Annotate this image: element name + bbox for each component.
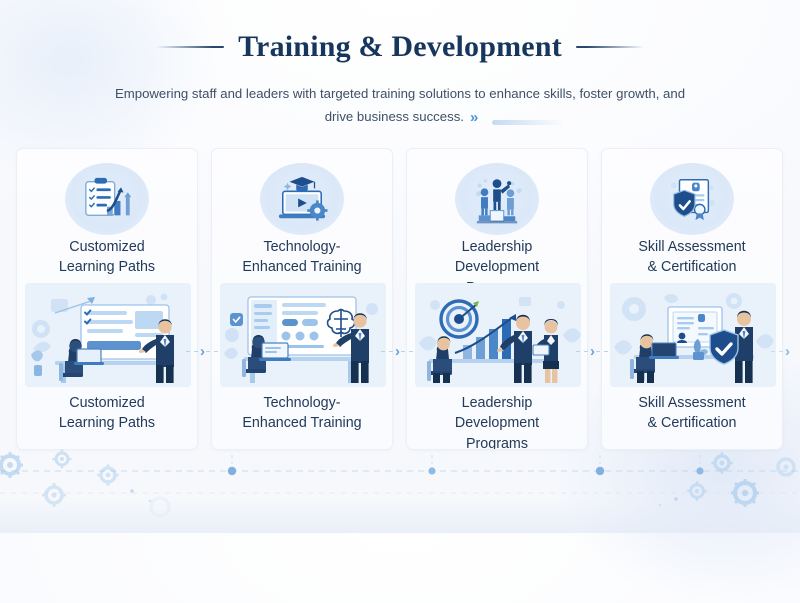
checklist-growth-chart-icon bbox=[65, 163, 149, 235]
card-footer-line-2: & Certification bbox=[608, 413, 776, 433]
card-footer-line-2: Enhanced Training bbox=[218, 413, 386, 433]
card-title-line-1: Skill Assessment bbox=[610, 237, 774, 257]
card-footer-label: Technology- Enhanced Training bbox=[212, 393, 392, 434]
connector-edge-left: › bbox=[0, 344, 1, 358]
certification-shield-desk-illustration bbox=[610, 283, 776, 387]
card-technology-enhanced-training[interactable]: Technology- Enhanced Training bbox=[211, 148, 393, 450]
shield-check-certificate-icon bbox=[650, 163, 734, 235]
card-footer-label: Leadership Development Programs bbox=[407, 393, 587, 450]
winners-podium-icon bbox=[455, 163, 539, 235]
card-footer-line-1: Skill Assessment bbox=[608, 393, 776, 413]
card-footer-line-1: Leadership bbox=[413, 393, 581, 413]
target-growth-chart-team-illustration bbox=[415, 283, 581, 387]
chevron-right-icon: › bbox=[590, 344, 595, 359]
card-footer-line-1: Technology- bbox=[218, 393, 386, 413]
card-title-line-1: Leadership bbox=[415, 237, 579, 257]
card-title-line-1: Customized bbox=[25, 237, 189, 257]
ai-dashboard-training-illustration bbox=[220, 283, 386, 387]
chevron-right-icon: › bbox=[200, 344, 205, 359]
page-header: Training & Development Empowering staff … bbox=[0, 0, 800, 131]
card-customized-learning-paths[interactable]: Customized Learning Paths bbox=[16, 148, 198, 450]
card-footer-label: Skill Assessment & Certification bbox=[602, 393, 782, 434]
card-title-line-1: Technology- bbox=[220, 237, 384, 257]
card-footer-line-2: Development bbox=[413, 413, 581, 433]
page-subtitle: Empowering staff and leaders with target… bbox=[110, 82, 690, 131]
card-title: Skill Assessment & Certification bbox=[602, 237, 782, 278]
trainer-presenting-checklist-illustration bbox=[25, 283, 191, 387]
card-title-line-2: Enhanced Training bbox=[220, 257, 384, 277]
card-title-line-2: Development bbox=[415, 257, 579, 277]
card-footer-label: Customized Learning Paths bbox=[17, 393, 197, 434]
laptop-play-graduation-gear-icon bbox=[260, 163, 344, 235]
card-title-line-2: Learning Paths bbox=[25, 257, 189, 277]
page-subtitle-text: Empowering staff and leaders with target… bbox=[115, 86, 685, 124]
card-title-line-2: & Certification bbox=[610, 257, 774, 277]
chevron-right-icon: › bbox=[395, 344, 400, 359]
title-rule-left bbox=[156, 46, 224, 48]
card-footer-line-3: Programs bbox=[413, 434, 581, 450]
card-footer-line-2: Learning Paths bbox=[23, 413, 191, 433]
chevron-right-icon: › bbox=[785, 344, 790, 359]
process-card-strip: Customized Learning Paths bbox=[0, 148, 800, 452]
card-leadership-development-programs[interactable]: Leadership Development Programs bbox=[406, 148, 588, 450]
footer-baseline-band bbox=[0, 499, 800, 533]
title-rule-right bbox=[576, 46, 644, 48]
title-row: Training & Development bbox=[0, 30, 800, 64]
double-chevron-icon: » bbox=[470, 105, 475, 131]
card-title: Customized Learning Paths bbox=[17, 237, 197, 278]
card-footer-line-1: Customized bbox=[23, 393, 191, 413]
page-title: Training & Development bbox=[238, 30, 562, 64]
subtitle-arrow-trail bbox=[492, 120, 564, 125]
card-title: Technology- Enhanced Training bbox=[212, 237, 392, 278]
card-skill-assessment-certification[interactable]: Skill Assessment & Certification bbox=[601, 148, 783, 450]
